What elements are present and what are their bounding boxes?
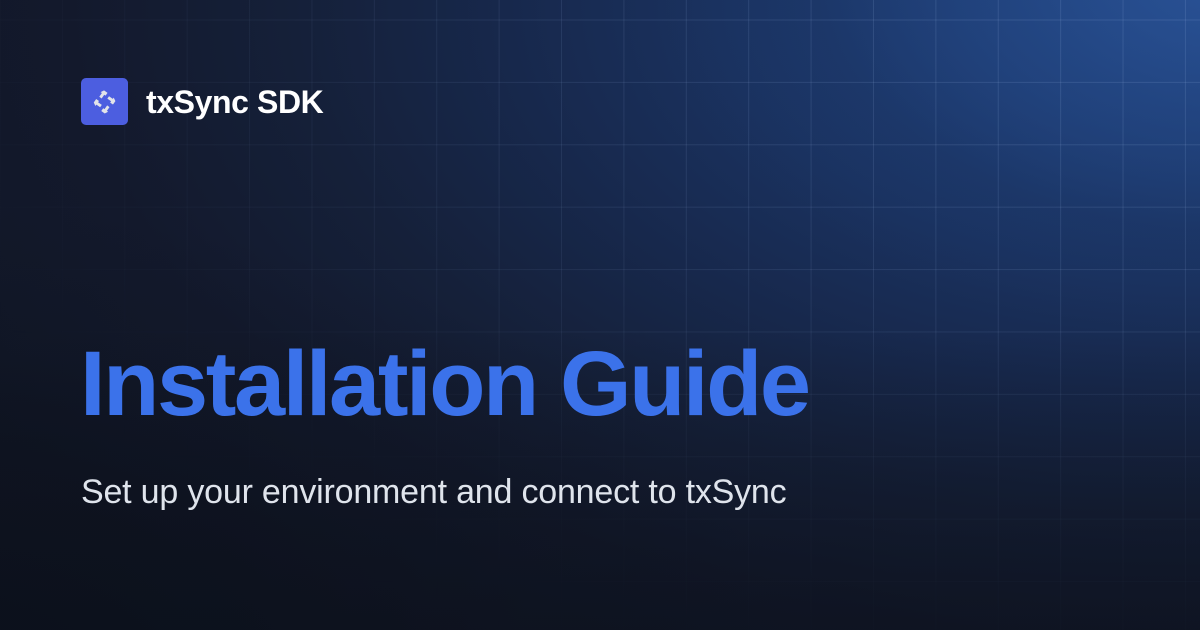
brand-name: txSync SDK [146, 86, 323, 118]
page-subtitle: Set up your environment and connect to t… [81, 468, 801, 516]
pinwheel-triskelion-arrows-icon [90, 87, 120, 117]
page-title: Installation Guide [80, 338, 809, 430]
card-content: txSync SDK Installation Guide Set up you… [0, 0, 1200, 630]
brand-logo-badge [81, 78, 128, 125]
social-card: txSync SDK Installation Guide Set up you… [0, 0, 1200, 630]
brand-lockup: txSync SDK [81, 78, 323, 125]
